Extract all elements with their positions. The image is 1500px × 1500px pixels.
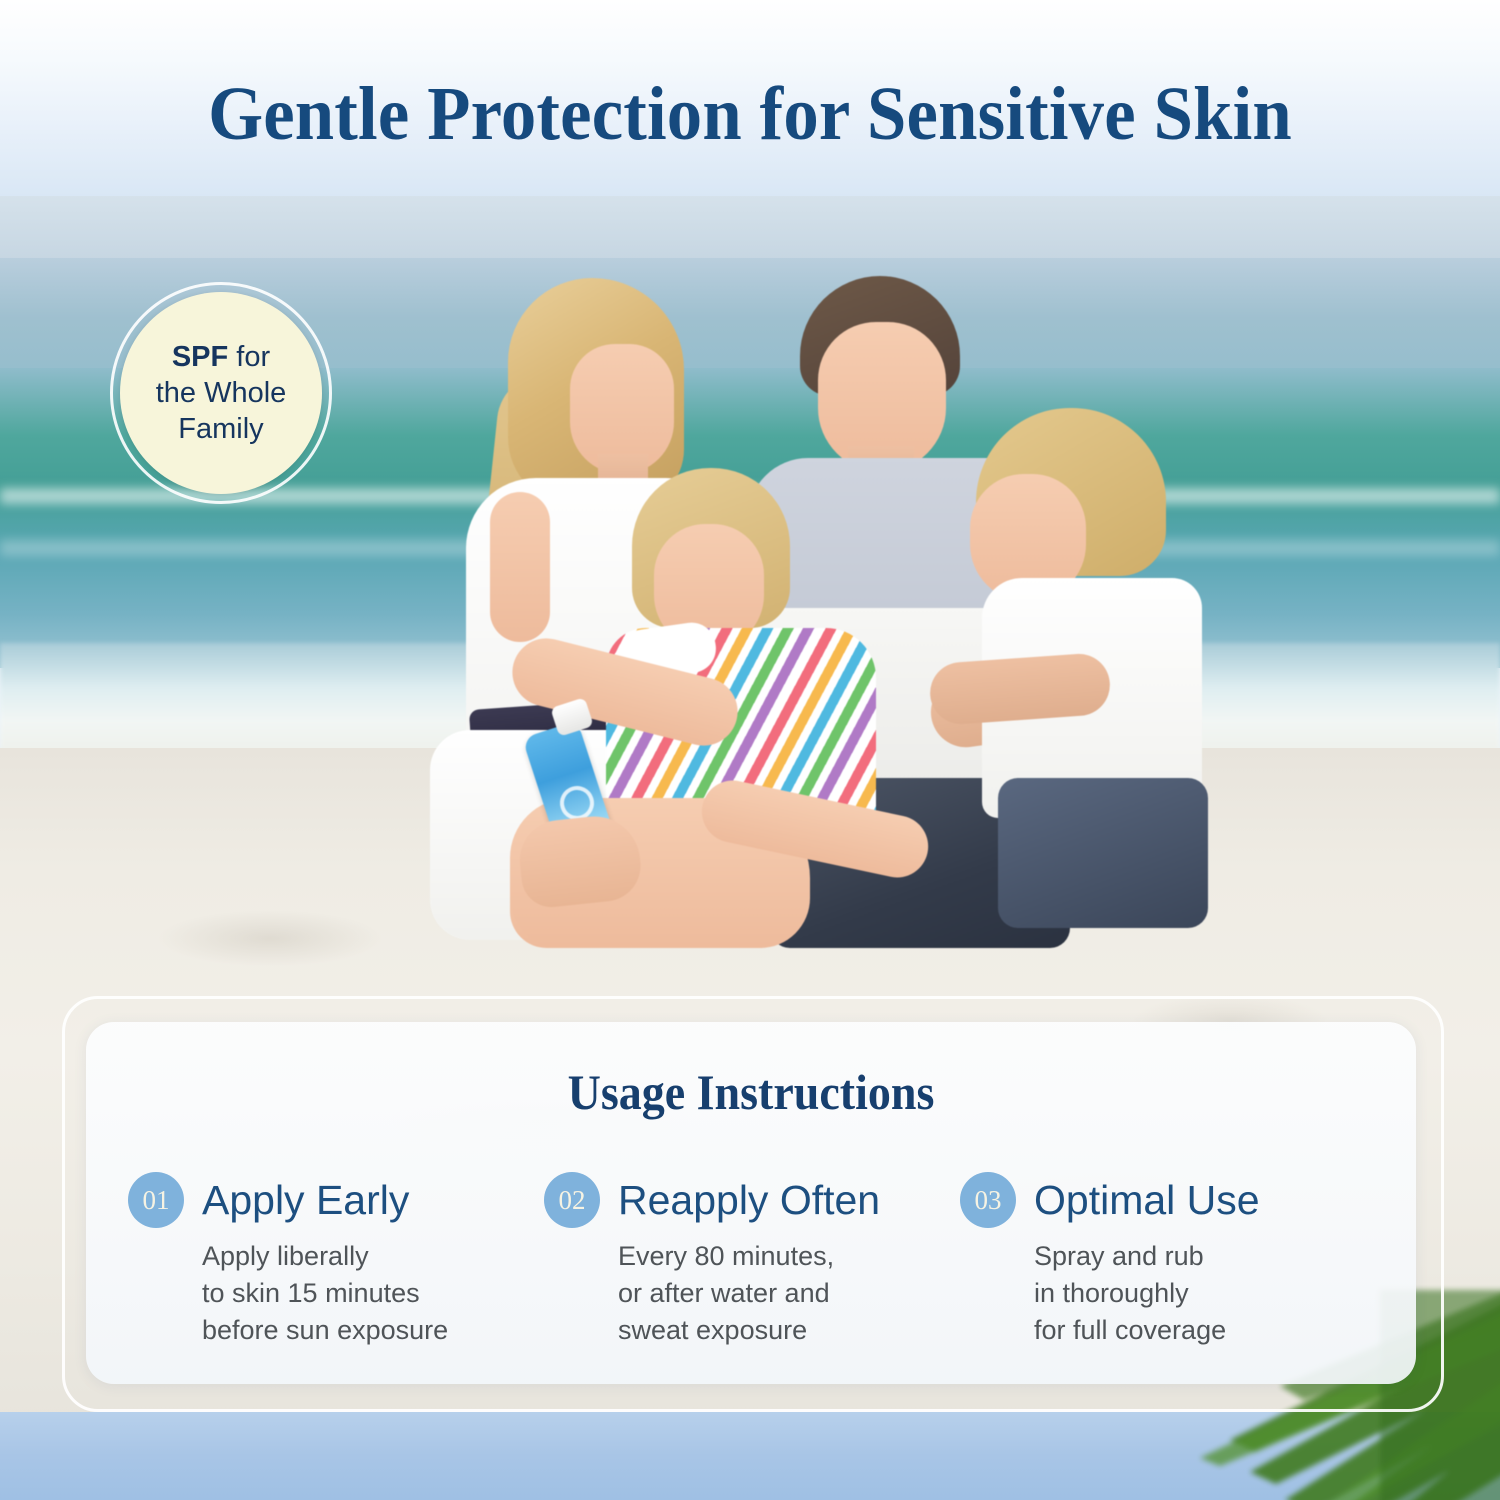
- step-title: Optimal Use: [1034, 1176, 1260, 1224]
- step-body: Spray and rub in thoroughly for full cov…: [1034, 1238, 1376, 1349]
- step-item-02: 02 Reapply Often Every 80 minutes, or af…: [544, 1172, 960, 1349]
- step-header: 02 Reapply Often: [544, 1172, 960, 1228]
- step-item-01: 01 Apply Early Apply liberally to skin 1…: [128, 1172, 544, 1349]
- panel-title: Usage Instructions: [139, 1064, 1363, 1120]
- steps-list: 01 Apply Early Apply liberally to skin 1…: [128, 1172, 1378, 1349]
- step-header: 01 Apply Early: [128, 1172, 544, 1228]
- son-shorts: [998, 778, 1208, 928]
- step-number-badge: 03: [960, 1172, 1016, 1228]
- spf-badge-line1-rest: for: [228, 341, 270, 373]
- sunscreen-product-poster: Gentle Protection for Sensitive Skin: [0, 0, 1500, 1500]
- spf-badge-line2: the Whole: [156, 375, 287, 411]
- father-arm-around-son: [928, 652, 1112, 726]
- spf-badge-circle: SPF for the Whole Family: [120, 292, 322, 494]
- step-number-badge: 01: [128, 1172, 184, 1228]
- step-body: Apply liberally to skin 15 minutes befor…: [202, 1238, 544, 1349]
- bottom-band: [0, 1412, 1500, 1500]
- usage-instructions-panel: Usage Instructions 01 Apply Early Apply …: [86, 1022, 1416, 1384]
- step-title: Reapply Often: [618, 1176, 880, 1224]
- step-header: 03 Optimal Use: [960, 1172, 1376, 1228]
- spf-badge-bold: SPF: [172, 341, 228, 373]
- page-title: Gentle Protection for Sensitive Skin: [53, 72, 1448, 156]
- family-group: [370, 278, 1200, 938]
- step-title: Apply Early: [202, 1176, 409, 1224]
- spf-badge-text: SPF for the Whole Family: [156, 339, 287, 447]
- spf-badge: SPF for the Whole Family: [110, 282, 332, 504]
- step-body: Every 80 minutes, or after water and swe…: [618, 1238, 960, 1349]
- step-number-badge: 02: [544, 1172, 600, 1228]
- step-item-03: 03 Optimal Use Spray and rub in thorough…: [960, 1172, 1376, 1349]
- header-band: Gentle Protection for Sensitive Skin: [0, 0, 1500, 196]
- spf-badge-line3: Family: [156, 411, 287, 447]
- mother-shoulder: [490, 492, 550, 642]
